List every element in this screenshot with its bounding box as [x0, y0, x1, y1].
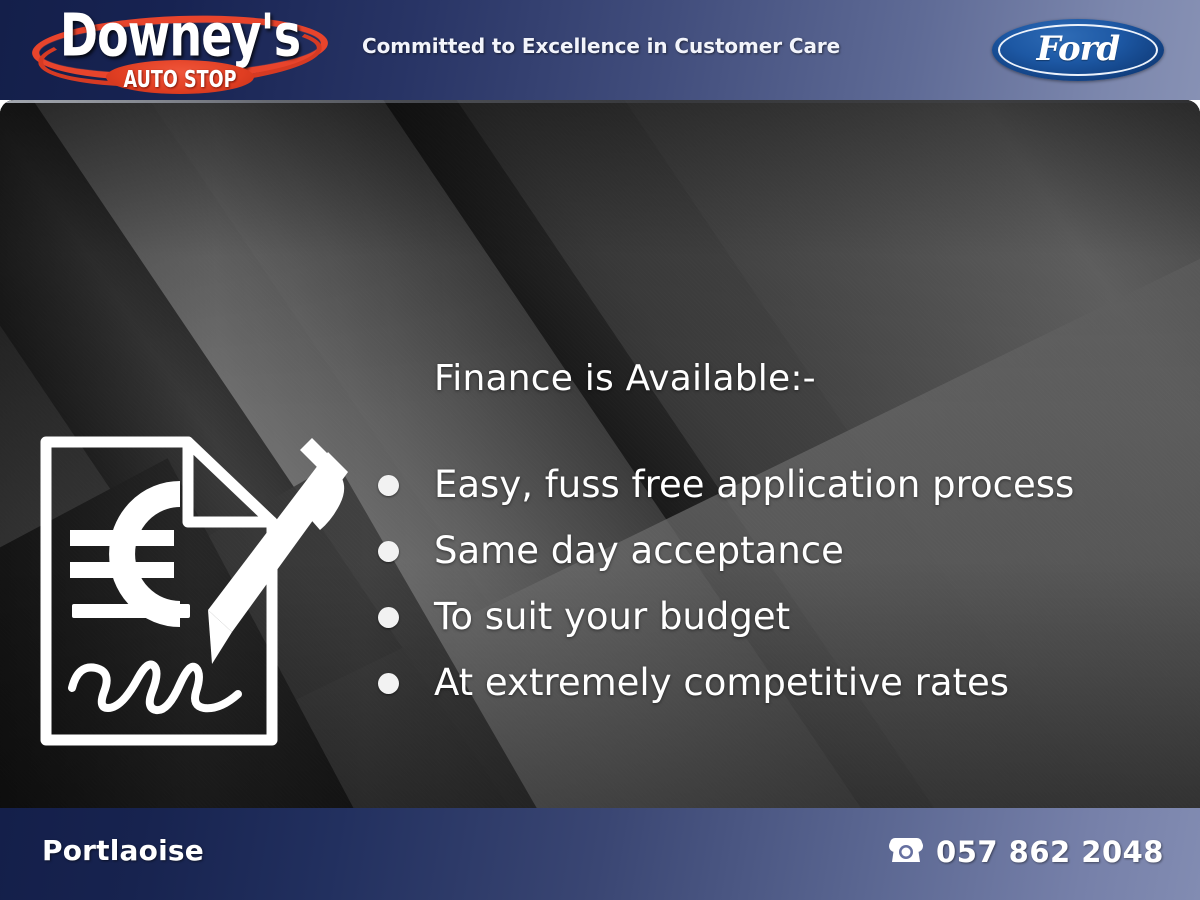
pen-icon	[208, 438, 348, 664]
logo-wordmark: Downey's	[33, 6, 327, 65]
ford-logo[interactable]: Ford	[992, 19, 1164, 81]
advert-banner: Downey's AUTO STOP Committed to Excellen…	[0, 0, 1200, 900]
benefits-list: Easy, fuss free application process Same…	[370, 463, 1170, 727]
panel-top-edge	[0, 100, 1200, 103]
list-item: Easy, fuss free application process	[370, 463, 1170, 529]
bullet-dot-icon	[378, 607, 399, 628]
list-item-label: Same day acceptance	[434, 529, 1170, 573]
branch-location-label: Portlaoise	[42, 834, 204, 867]
telephone-icon	[888, 834, 924, 869]
page-footer: Portlaoise 057 862 2048	[0, 808, 1200, 900]
list-item: To suit your budget	[370, 595, 1170, 661]
bullet-dot-icon	[378, 673, 399, 694]
euro-symbol	[70, 494, 180, 614]
finance-copy-block: Finance is Available:- Easy, fuss free a…	[370, 358, 1170, 727]
list-item: Same day acceptance	[370, 529, 1170, 595]
phone-number-label: 057 862 2048	[936, 835, 1164, 869]
document-rule-line	[72, 604, 190, 618]
page-title: Finance is Available:-	[434, 358, 1170, 399]
list-item-label: At extremely competitive rates	[434, 661, 1170, 705]
bullet-dot-icon	[378, 475, 399, 496]
list-item-label: Easy, fuss free application process	[434, 463, 1170, 507]
list-item-label: To suit your budget	[434, 595, 1170, 639]
ford-wordmark: Ford	[992, 19, 1164, 81]
header-tagline: Committed to Excellence in Customer Care	[362, 34, 840, 58]
list-item: At extremely competitive rates	[370, 661, 1170, 727]
logo-subtext: AUTO STOP	[115, 65, 245, 93]
signed-euro-document-icon	[36, 426, 356, 756]
dealer-logo[interactable]: Downey's AUTO STOP	[20, 4, 340, 98]
main-panel: Finance is Available:- Easy, fuss free a…	[0, 100, 1200, 808]
phone-contact[interactable]: 057 862 2048	[888, 834, 1164, 869]
page-header: Downey's AUTO STOP Committed to Excellen…	[0, 0, 1200, 100]
bullet-dot-icon	[378, 541, 399, 562]
signature-squiggle	[72, 665, 238, 711]
